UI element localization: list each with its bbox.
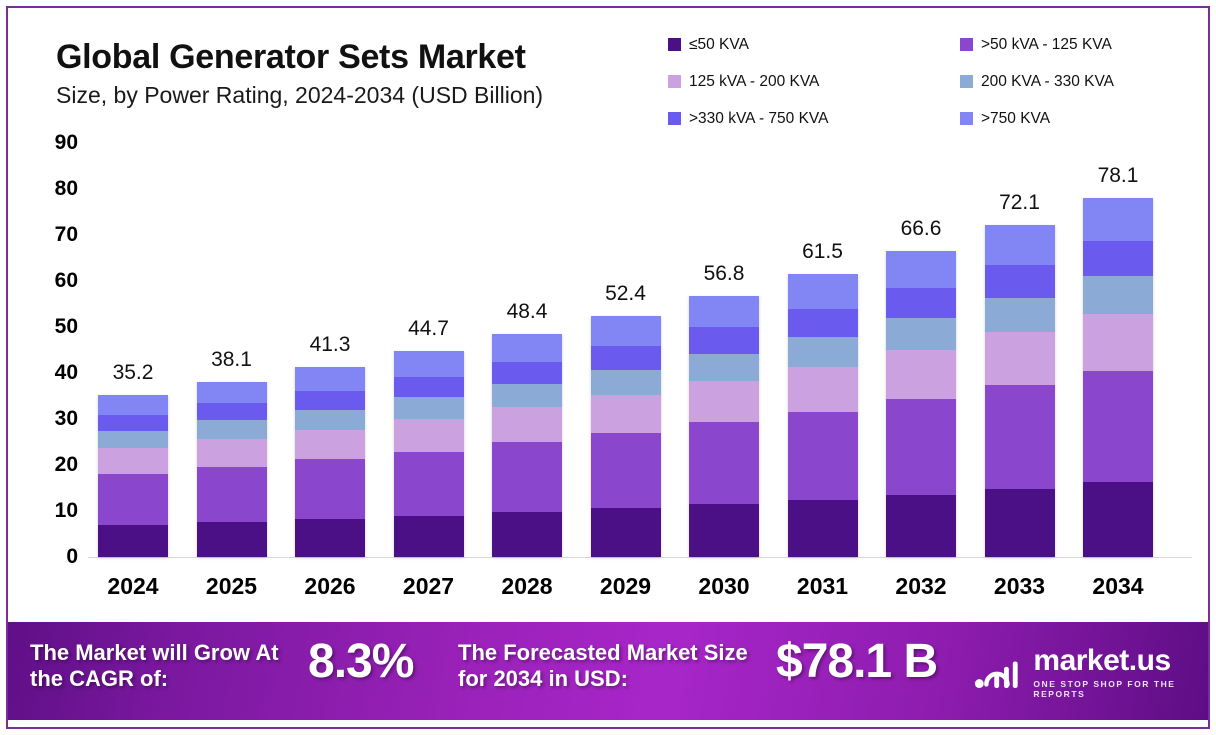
footer-content: The Market will Grow At the CAGR of: 8.3… (8, 628, 1208, 714)
bar-group[interactable]: 35.22024 (98, 0, 168, 557)
y-axis-tick-label: 90 (32, 131, 78, 155)
bar-value-label: 61.5 (773, 240, 873, 264)
logo-tagline: ONE STOP SHOP FOR THE REPORTS (1033, 679, 1208, 699)
x-axis-tick-label: 2034 (1068, 573, 1168, 600)
bar-value-label: 52.4 (576, 282, 676, 306)
stacked-bar[interactable] (591, 316, 661, 557)
y-axis-tick-label: 50 (32, 315, 78, 339)
stacked-bar[interactable] (1083, 198, 1153, 557)
bar-segment[interactable] (689, 296, 759, 328)
bar-group[interactable]: 48.42028 (492, 0, 562, 557)
bar-segment[interactable] (197, 467, 267, 522)
bar-segment[interactable] (886, 350, 956, 399)
bar-group[interactable]: 44.72027 (394, 0, 464, 557)
bar-segment[interactable] (689, 381, 759, 422)
bar-segment[interactable] (1083, 482, 1153, 557)
bar-segment[interactable] (985, 332, 1055, 385)
bar-value-label: 72.1 (970, 191, 1070, 215)
bar-segment[interactable] (492, 362, 562, 384)
bar-segment[interactable] (985, 298, 1055, 333)
x-axis-tick-label: 2032 (871, 573, 971, 600)
bar-segment[interactable] (197, 439, 267, 467)
bar-segment[interactable] (295, 519, 365, 557)
bar-segment[interactable] (591, 395, 661, 433)
bar-segment[interactable] (1083, 241, 1153, 276)
brand-logo[interactable]: market.us ONE STOP SHOP FOR THE REPORTS (974, 646, 1208, 699)
bar-value-label: 38.1 (182, 348, 282, 372)
bar-segment[interactable] (689, 354, 759, 381)
bar-group[interactable]: 78.12034 (1083, 0, 1153, 557)
bar-group[interactable]: 56.82030 (689, 0, 759, 557)
stacked-bar[interactable] (788, 274, 858, 557)
bar-group[interactable]: 72.12033 (985, 0, 1055, 557)
bar-segment[interactable] (985, 265, 1055, 298)
bar-segment[interactable] (591, 370, 661, 395)
bar-value-label: 41.3 (280, 333, 380, 357)
bar-segment[interactable] (591, 508, 661, 557)
y-axis-tick-label: 70 (32, 223, 78, 247)
stacked-bar[interactable] (98, 395, 168, 557)
market-us-logo-icon (974, 652, 1023, 694)
bar-segment[interactable] (886, 251, 956, 288)
forecast-label: The Forecasted Market Size for 2034 in U… (458, 640, 763, 692)
bar-segment[interactable] (788, 500, 858, 557)
bar-segment[interactable] (689, 422, 759, 503)
bar-value-label: 35.2 (83, 361, 183, 385)
bar-segment[interactable] (295, 367, 365, 391)
bar-segment[interactable] (98, 474, 168, 525)
x-axis-tick-label: 2029 (576, 573, 676, 600)
bar-segment[interactable] (492, 442, 562, 512)
bar-segment[interactable] (985, 225, 1055, 265)
bar-segment[interactable] (98, 431, 168, 448)
cagr-label: The Market will Grow At the CAGR of: (30, 640, 300, 692)
bar-segment[interactable] (1083, 198, 1153, 241)
bar-segment[interactable] (492, 384, 562, 407)
y-axis-tick-label: 20 (32, 453, 78, 477)
chart-plot-area: 0102030405060708090 35.2202438.1202541.3… (0, 0, 1216, 620)
bars-container: 35.2202438.1202541.3202644.7202748.42028… (88, 0, 1196, 620)
stacked-bar[interactable] (689, 296, 759, 557)
bar-segment[interactable] (788, 274, 858, 309)
logo-text: market.us ONE STOP SHOP FOR THE REPORTS (1033, 646, 1208, 699)
x-axis-tick-label: 2025 (182, 573, 282, 600)
stacked-bar[interactable] (492, 334, 562, 557)
x-axis-tick-label: 2030 (674, 573, 774, 600)
bar-segment[interactable] (492, 334, 562, 362)
bar-segment[interactable] (394, 516, 464, 557)
stacked-bar[interactable] (295, 367, 365, 557)
bar-segment[interactable] (788, 309, 858, 337)
y-axis-tick-label: 80 (32, 177, 78, 201)
bar-segment[interactable] (886, 495, 956, 557)
bar-segment[interactable] (295, 430, 365, 460)
bar-segment[interactable] (985, 489, 1055, 557)
bar-segment[interactable] (788, 412, 858, 501)
x-axis-tick-label: 2026 (280, 573, 380, 600)
bar-segment[interactable] (394, 351, 464, 377)
bar-segment[interactable] (394, 452, 464, 516)
bar-segment[interactable] (886, 288, 956, 318)
y-axis: 0102030405060708090 (30, 0, 78, 620)
forecast-value: $78.1 B (776, 634, 937, 691)
bar-segment[interactable] (98, 395, 168, 415)
y-axis-tick-label: 30 (32, 407, 78, 431)
bar-segment[interactable] (197, 420, 267, 438)
bar-segment[interactable] (394, 377, 464, 397)
x-axis-tick-label: 2027 (379, 573, 479, 600)
bar-segment[interactable] (985, 385, 1055, 489)
logo-name: market.us (1033, 646, 1208, 676)
bar-segment[interactable] (1083, 276, 1153, 313)
bar-segment[interactable] (886, 318, 956, 350)
y-axis-tick-label: 40 (32, 361, 78, 385)
bar-segment[interactable] (1083, 371, 1153, 482)
stacked-bar[interactable] (985, 225, 1055, 557)
bar-segment[interactable] (295, 459, 365, 518)
bar-segment[interactable] (394, 397, 464, 419)
cagr-value: 8.3% (308, 634, 413, 691)
bar-segment[interactable] (295, 391, 365, 410)
y-axis-tick-label: 60 (32, 269, 78, 293)
bar-segment[interactable] (591, 346, 661, 370)
bar-value-label: 48.4 (477, 300, 577, 324)
bar-segment[interactable] (492, 512, 562, 557)
bar-group[interactable]: 41.32026 (295, 0, 365, 557)
bar-segment[interactable] (197, 382, 267, 403)
bar-value-label: 44.7 (379, 317, 479, 341)
x-axis-tick-label: 2031 (773, 573, 873, 600)
footer-banner: The Market will Grow At the CAGR of: 8.3… (8, 622, 1208, 720)
bar-segment[interactable] (591, 433, 661, 508)
bar-segment[interactable] (98, 415, 168, 431)
bar-group[interactable]: 52.42029 (591, 0, 661, 557)
stacked-bar[interactable] (394, 351, 464, 557)
bar-group[interactable]: 38.12025 (197, 0, 267, 557)
bar-segment[interactable] (197, 522, 267, 557)
chart-page: Global Generator Sets Market Size, by Po… (0, 0, 1216, 735)
y-axis-tick-label: 0 (32, 545, 78, 569)
bar-value-label: 56.8 (674, 262, 774, 286)
bar-segment[interactable] (98, 525, 168, 557)
bar-value-label: 66.6 (871, 217, 971, 241)
y-axis-tick-label: 10 (32, 499, 78, 523)
bar-segment[interactable] (492, 407, 562, 442)
x-axis-tick-label: 2028 (477, 573, 577, 600)
bar-segment[interactable] (591, 316, 661, 346)
bar-value-label: 78.1 (1068, 164, 1168, 188)
x-axis-tick-label: 2024 (83, 573, 183, 600)
bar-segment[interactable] (394, 419, 464, 452)
stacked-bar[interactable] (197, 382, 267, 557)
bar-segment[interactable] (886, 399, 956, 495)
bar-group[interactable]: 66.62032 (886, 0, 956, 557)
bar-segment[interactable] (295, 410, 365, 430)
bar-segment[interactable] (98, 448, 168, 474)
bar-segment[interactable] (197, 403, 267, 420)
stacked-bar[interactable] (886, 251, 956, 557)
bar-segment[interactable] (788, 337, 858, 366)
bar-segment[interactable] (689, 327, 759, 353)
bar-group[interactable]: 61.52031 (788, 0, 858, 557)
bar-segment[interactable] (1083, 314, 1153, 372)
bar-segment[interactable] (689, 504, 759, 557)
x-axis-tick-label: 2033 (970, 573, 1070, 600)
bar-segment[interactable] (788, 367, 858, 412)
